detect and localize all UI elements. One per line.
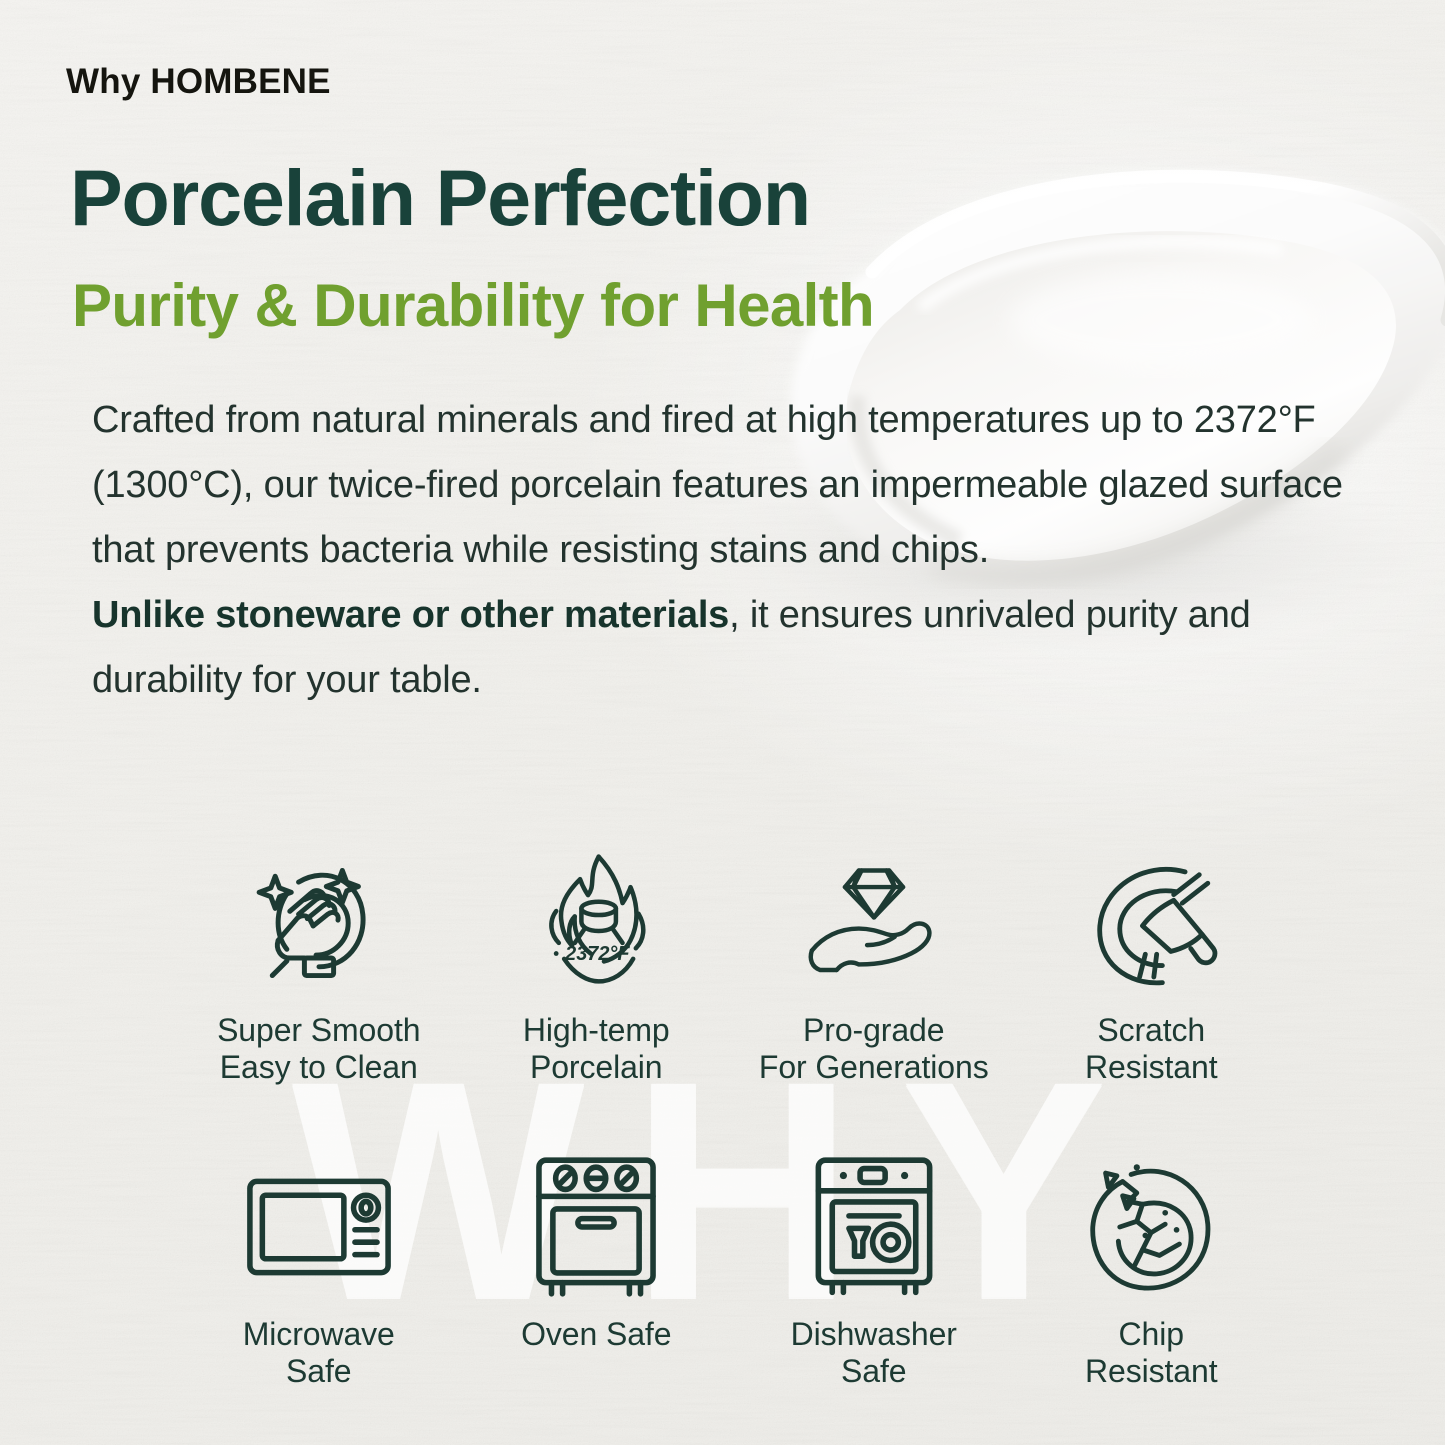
feature-item-pro-grade: Pro-grade For Generations bbox=[735, 848, 1013, 1086]
flame-temperature-icon: 2372°F bbox=[528, 848, 664, 998]
body-copy: Crafted from natural minerals and fired … bbox=[92, 388, 1382, 713]
feature-label: Scratch Resistant bbox=[1085, 1012, 1218, 1086]
feature-item-dishwasher-safe: Dishwasher Safe bbox=[735, 1152, 1013, 1390]
feature-label: Dishwasher Safe bbox=[791, 1316, 957, 1390]
feature-item-scratch-resistant: Scratch Resistant bbox=[1013, 848, 1291, 1086]
flame-temperature-label: 2372°F bbox=[564, 943, 630, 965]
feature-label: Super Smooth Easy to Clean bbox=[217, 1012, 420, 1086]
dishwasher-icon bbox=[810, 1152, 938, 1302]
feature-grid: Super Smooth Easy to Clean bbox=[180, 848, 1290, 1390]
oven-icon bbox=[532, 1152, 660, 1302]
body-bold-phrase: Unlike stoneware or other materials bbox=[92, 594, 729, 636]
feature-item-oven-safe: Oven Safe bbox=[458, 1152, 736, 1390]
knife-scratch-plate-icon bbox=[1080, 848, 1222, 998]
diamond-in-hand-icon bbox=[798, 848, 950, 998]
body-paragraph-emphasis: Unlike stoneware or other materials, it … bbox=[92, 583, 1382, 713]
feature-label: Oven Safe bbox=[521, 1316, 671, 1353]
hand-polishing-plate-icon bbox=[246, 848, 392, 998]
brand-eyebrow: Why HOMBENE bbox=[66, 62, 331, 102]
page-title: Porcelain Perfection bbox=[70, 158, 810, 239]
microwave-icon bbox=[243, 1152, 395, 1302]
feature-label: Microwave Safe bbox=[243, 1316, 395, 1390]
page-subtitle: Purity & Durability for Health bbox=[72, 274, 874, 337]
feature-label: High-temp Porcelain bbox=[523, 1012, 670, 1086]
infographic-page: WHY bbox=[0, 0, 1445, 1445]
cracked-plate-icon bbox=[1080, 1152, 1222, 1302]
feature-item-chip-resistant: Chip Resistant bbox=[1013, 1152, 1291, 1390]
feature-item-high-temp: 2372°F High-temp Porcelain bbox=[458, 848, 736, 1086]
feature-item-microwave-safe: Microwave Safe bbox=[180, 1152, 458, 1390]
feature-label: Chip Resistant bbox=[1085, 1316, 1218, 1390]
feature-item-super-smooth: Super Smooth Easy to Clean bbox=[180, 848, 458, 1086]
feature-label: Pro-grade For Generations bbox=[759, 1012, 989, 1086]
body-paragraph-lead: Crafted from natural minerals and fired … bbox=[92, 388, 1382, 583]
